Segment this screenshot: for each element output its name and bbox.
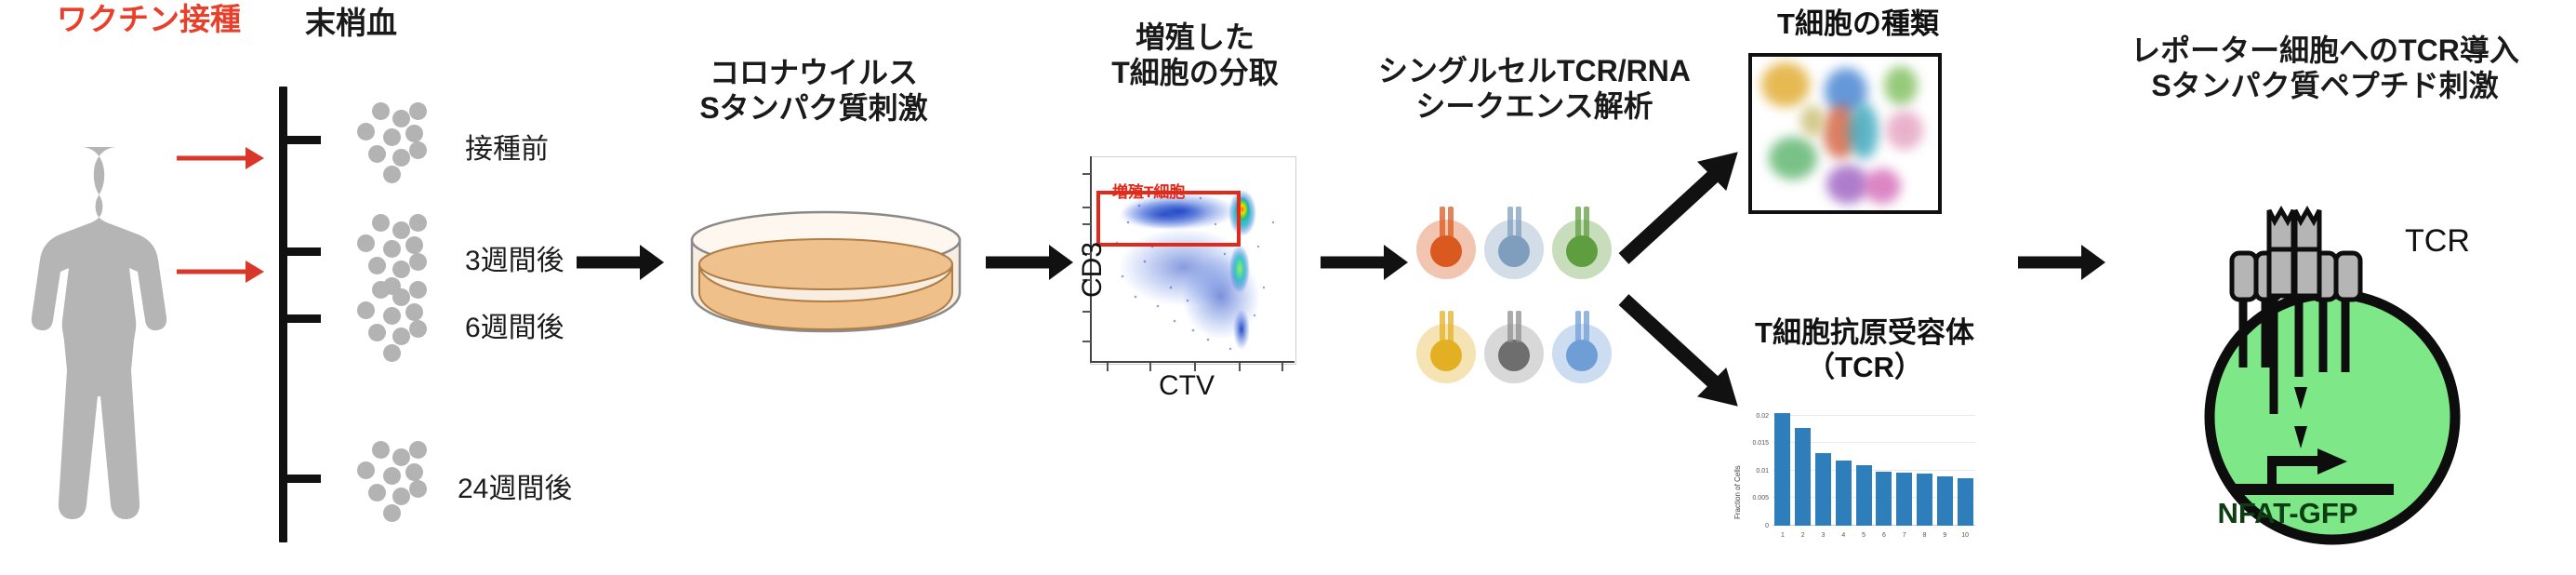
tcr-bar-chart: Fraction of Cells 00.0050.010.0150.02 12… [1728, 383, 1979, 546]
vaccination-arrow-1 [177, 147, 266, 169]
tcr-bar [1815, 453, 1831, 526]
umap-cluster-orange [1761, 62, 1810, 107]
tcr-chart-x-tick-label: 10 [1955, 532, 1975, 539]
tcr-bar [1774, 413, 1790, 526]
tcr-chart-x-tick-label: 6 [1874, 532, 1894, 539]
flow-x-axis-label: CTV [1159, 370, 1215, 402]
timeline-tick-3 [287, 475, 321, 483]
flow-x-tick-3 [1239, 363, 1241, 371]
single-cell-icons-row2 [1414, 298, 1627, 456]
flow-x-tick-0 [1107, 363, 1109, 371]
timepoint-label-0: 接種前 [465, 126, 549, 167]
figure-canvas: ワクチン接種 末梢血 [0, 0, 2576, 575]
panel-title-sequencing: シングルセルTCR/RNA シークエンス解析 [1348, 54, 1720, 125]
flow-arrow-1 [577, 244, 666, 281]
timeline-spine [279, 87, 287, 542]
tcr-chart-x-tick-label: 7 [1894, 532, 1915, 539]
blood-cells-icon-2 [352, 279, 454, 365]
tcr-chart-x-tick-label: 1 [1773, 532, 1793, 539]
panel-title-reporter: レポーター細胞へのTCR導入 Sタンパク質ペプチド刺激 [2092, 33, 2557, 104]
tcr-bar [1896, 473, 1912, 526]
tcr-bar [1795, 428, 1811, 526]
branch-arrow-up [1618, 149, 1748, 270]
flow-x-axis-line [1090, 361, 1295, 363]
tcr-chart-y-tick-label: 0.01 [1741, 468, 1769, 475]
flow-y-axis-label: CD3 [1077, 242, 1109, 298]
timepoint-label-1: 3週間後 [465, 237, 564, 278]
flow-arrow-3 [1321, 244, 1410, 281]
umap-cluster-olive [1800, 105, 1825, 137]
timepoint-label-3: 24週間後 [458, 465, 572, 506]
flow-arrow-2 [986, 244, 1075, 281]
panel-title-peripheral-blood: 末梢血 [305, 6, 472, 42]
panel-title-stimulation: コロナウイルス Sタンパク質刺激 [642, 56, 986, 127]
tcr-bar [1876, 472, 1892, 526]
flow-y-tick-5 [1082, 311, 1091, 313]
nfat-gfp-label: NFAT-GFP [2218, 497, 2358, 529]
timeline-tick-2 [287, 314, 321, 323]
human-silhouette-icon [7, 140, 221, 568]
tcr-chart-x-tick-label: 2 [1793, 532, 1813, 539]
tcr-chart-x-tick-label: 5 [1853, 532, 1874, 539]
reporter-cell-illustration: NFAT-GFP TCR [2176, 177, 2492, 549]
panel-title-tcr: T細胞抗原受容体 （TCR） [1711, 316, 2018, 384]
tcr-bar [1836, 461, 1852, 526]
tcr-label: TCR [2405, 223, 2470, 259]
tcr-chart-x-tick-label: 3 [1813, 532, 1834, 539]
panel-title-vaccination: ワクチン接種 [28, 2, 270, 38]
tcr-bar [1958, 478, 1973, 526]
timeline-tick-1 [287, 247, 321, 256]
flow-y-tick-2 [1082, 223, 1091, 225]
tcr-bar [1856, 465, 1872, 526]
umap-cluster-magenta [1864, 168, 1901, 204]
blood-cells-icon-3 [352, 439, 454, 525]
tcr-chart-x-tick-label: 8 [1915, 532, 1935, 539]
timeline-tick-0 [287, 136, 321, 144]
flow-arrow-4 [2018, 244, 2107, 281]
umap-cluster-cyan [1849, 103, 1879, 159]
flow-x-tick-1 [1149, 363, 1151, 371]
umap-cluster-pink [1886, 111, 1923, 150]
flow-y-tick-0 [1082, 173, 1091, 175]
tcr-chart-bars [1773, 405, 1975, 526]
tcr-bar [1917, 474, 1932, 526]
flow-y-tick-6 [1082, 341, 1091, 342]
tcr-chart-y-tick-label: 0.02 [1741, 413, 1769, 420]
panel-title-sorting: 増殖した T細胞の分取 [1065, 20, 1325, 91]
tcr-chart-y-tick-label: 0 [1741, 523, 1769, 529]
tcr-chart-x-tick-label: 9 [1934, 532, 1955, 539]
flow-y-tick-1 [1082, 207, 1091, 208]
tcr-bar [1937, 476, 1953, 526]
blood-cells-icon-0 [352, 100, 454, 186]
vaccination-arrow-2 [177, 261, 266, 283]
umap-plot [1748, 53, 1942, 214]
umap-cluster-green-bottom [1769, 137, 1817, 180]
flow-x-tick-4 [1281, 363, 1283, 371]
tcr-chart-y-tick-label: 0.005 [1741, 495, 1769, 501]
flow-gate-label: 増殖T細胞 [1112, 179, 1185, 202]
panel-title-tcell-types: T細胞の種類 [1719, 7, 1998, 42]
umap-cluster-green-right [1884, 66, 1918, 105]
timepoint-label-2: 6週間後 [465, 304, 564, 345]
tcr-chart-x-tick-label: 4 [1833, 532, 1853, 539]
petri-dish-icon [686, 207, 965, 337]
tcr-chart-y-tick-label: 0.015 [1741, 440, 1769, 447]
